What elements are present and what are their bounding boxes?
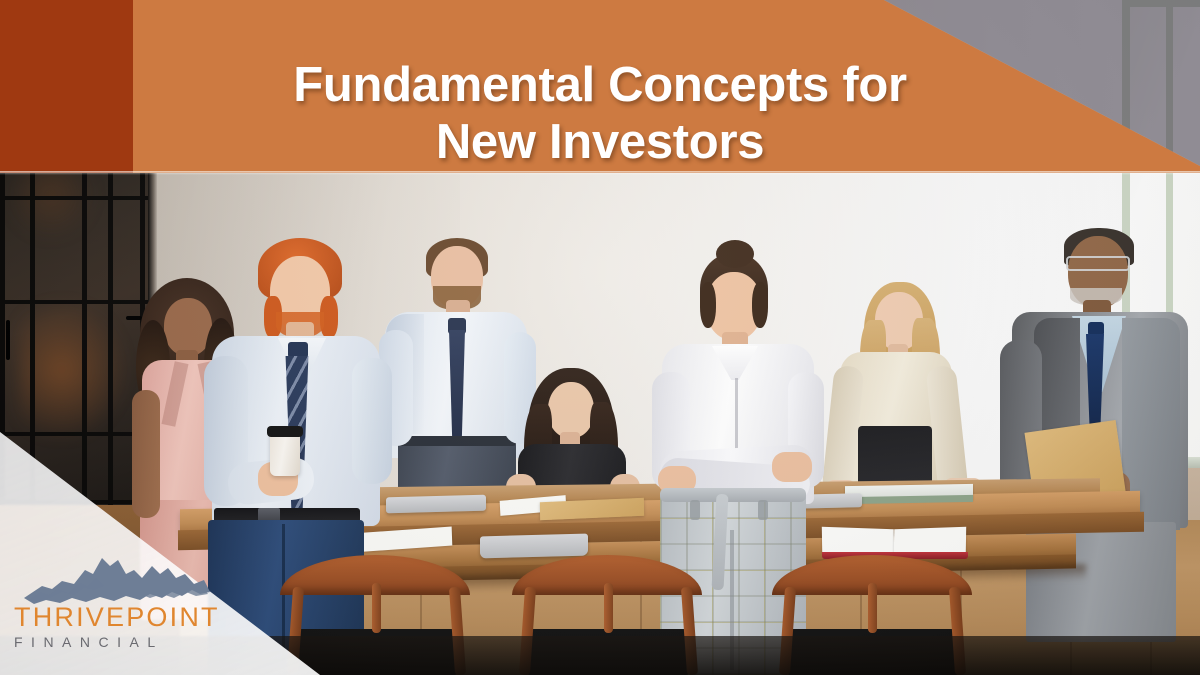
- presentation-slide: Fundamental Concepts for New Investors T…: [0, 0, 1200, 675]
- brand-subtitle: FINANCIAL: [14, 633, 224, 651]
- title-line-2: New Investors: [0, 114, 1200, 171]
- hair-bun: [716, 240, 754, 268]
- waistband: [660, 488, 806, 502]
- brand-logo[interactable]: THRIVEPOINT FINANCIAL: [14, 548, 224, 651]
- brand-name: THRIVEPOINT: [14, 602, 224, 632]
- open-book: [822, 528, 968, 558]
- banner-underline: [0, 171, 1200, 175]
- mountain-range-icon: [22, 548, 212, 606]
- coffee-lid: [267, 426, 303, 437]
- laptop-left: [386, 495, 486, 514]
- title-line-1: Fundamental Concepts for: [293, 58, 907, 112]
- page-title: Fundamental Concepts for New Investors: [0, 57, 1200, 171]
